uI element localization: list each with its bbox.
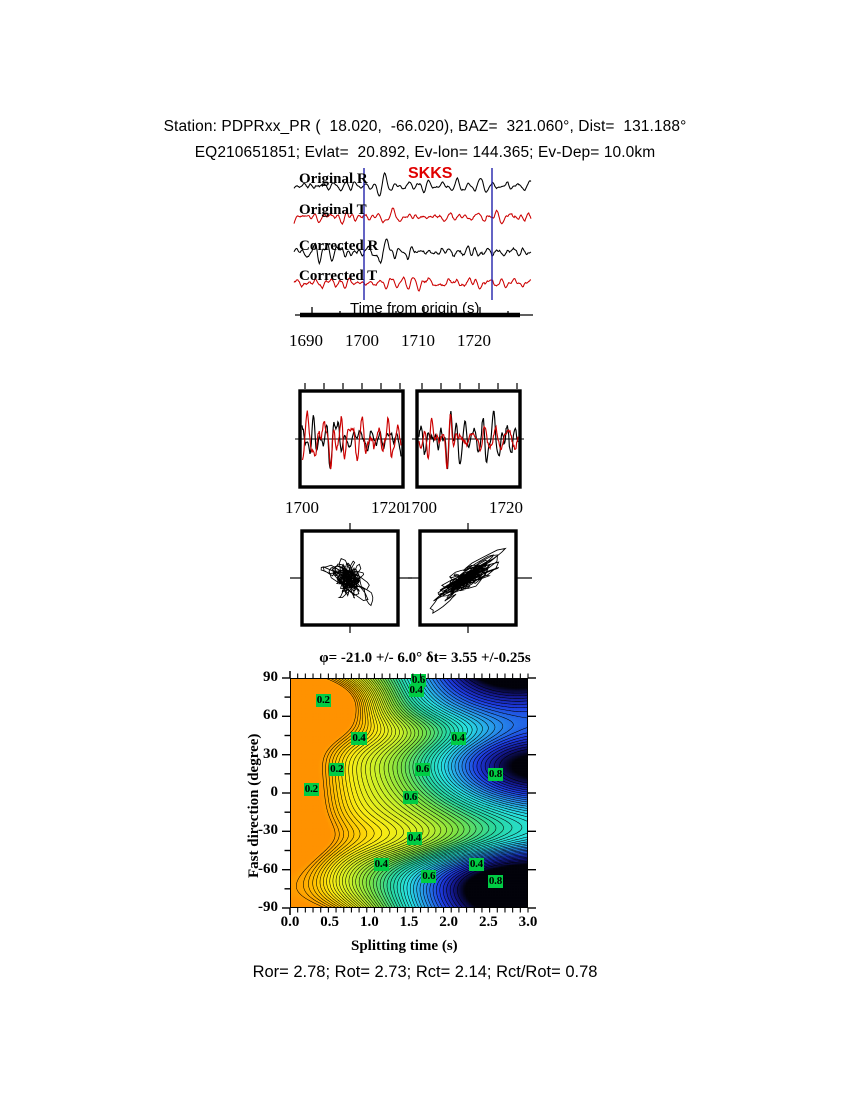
contour-y-tick-label: 30	[234, 746, 278, 763]
contour-x-tick-label: 1.0	[347, 914, 391, 931]
contour-x-tick-label: 2.0	[427, 914, 471, 931]
phase-label-skks: SKKS	[408, 165, 452, 183]
contour-y-tick-label: 60	[234, 707, 278, 724]
zoom-panel-right	[412, 383, 530, 491]
quality-stats-line: Ror= 2.78; Rot= 2.73; Rct= 2.14; Rct/Rot…	[0, 963, 850, 982]
contour-x-axis-title: Splitting time (s)	[351, 938, 458, 955]
contour-y-tick-label: 90	[234, 669, 278, 686]
contour-x-tick-label: 1.5	[387, 914, 431, 931]
contour-y-tick-label: -60	[234, 861, 278, 878]
particle-motion-panel-left	[290, 523, 412, 633]
trace-label-corrected-r: Corrected R	[299, 238, 378, 255]
particle-motion-panel-right	[408, 523, 532, 633]
waveform-tick-1700: 1700	[332, 331, 392, 351]
contour-x-tick-label: 0.5	[308, 914, 352, 931]
contour-y-tick-label: 0	[234, 784, 278, 801]
trace-label-original-t: Original T	[299, 202, 367, 219]
splitting-result-line: φ= -21.0 +/- 6.0° δt= 3.55 +/-0.25s	[0, 650, 850, 667]
contour-x-tick-label: 0.0	[268, 914, 312, 931]
contour-axis-ticks	[282, 670, 538, 918]
contour-y-tick-label: -30	[234, 822, 278, 839]
splitting-analysis-figure: Station: PDPRxx_PR ( 18.020, -66.020), B…	[0, 0, 850, 1100]
contour-x-tick-label: 2.5	[466, 914, 510, 931]
trace-label-corrected-t: Corrected T	[299, 268, 377, 285]
zoom-left-tick-start: 1700	[272, 498, 332, 518]
particle-motion-trace	[321, 559, 373, 606]
contour-x-tick-label: 3.0	[506, 914, 550, 931]
zoom-right-tick-end: 1720	[476, 498, 536, 518]
waveform-axis-title: Time from origin (s)	[350, 300, 479, 317]
trace-label-original-r: Original R	[299, 171, 368, 188]
zoom-panel-left	[295, 383, 410, 491]
waveform-tick-1710: 1710	[388, 331, 448, 351]
particle-motion-trace	[430, 548, 505, 613]
station-info-line: Station: PDPRxx_PR ( 18.020, -66.020), B…	[0, 118, 850, 136]
waveform-tick-1720: 1720	[444, 331, 504, 351]
waveform-tick-1690: 1690	[276, 331, 336, 351]
zoom-right-tick-start: 1700	[390, 498, 450, 518]
